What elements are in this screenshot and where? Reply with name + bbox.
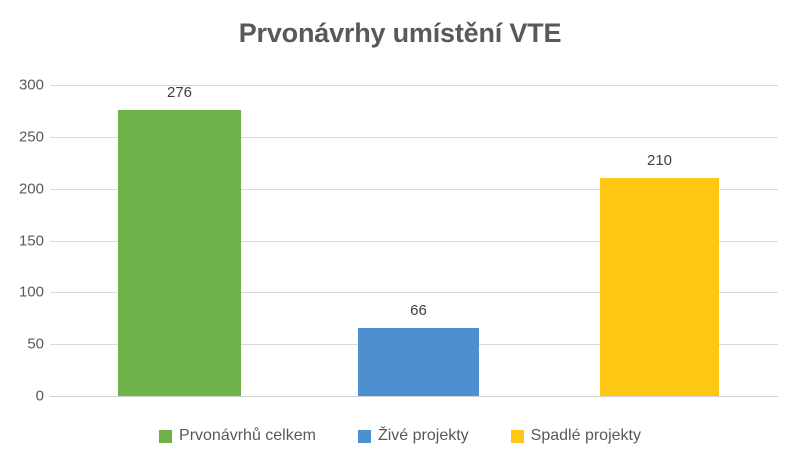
bar-value-label: 210 <box>600 153 719 168</box>
chart-container: Prvonávrhy umístění VTE 0501001502002503… <box>0 0 800 466</box>
chart-title: Prvonávrhy umístění VTE <box>0 18 800 49</box>
y-axis: 050100150200250300 <box>0 85 44 396</box>
y-tick-label: 50 <box>0 337 44 352</box>
bar-2[interactable] <box>358 328 479 396</box>
y-tick-label: 250 <box>0 129 44 144</box>
y-tick-label: 300 <box>0 78 44 93</box>
legend-item-3[interactable]: Spadlé projekty <box>511 428 641 444</box>
legend-label: Živé projekty <box>378 428 469 444</box>
legend-swatch-icon <box>511 430 524 443</box>
plot-area: 27666210 <box>50 85 778 396</box>
y-tick-label: 0 <box>0 389 44 404</box>
y-tick-label: 200 <box>0 181 44 196</box>
gridline <box>50 396 778 397</box>
legend-swatch-icon <box>159 430 172 443</box>
bar-1[interactable] <box>118 110 241 396</box>
legend-label: Prvonávrhů celkem <box>179 428 316 444</box>
legend-label: Spadlé projekty <box>531 428 641 444</box>
bar-value-label: 276 <box>118 85 241 100</box>
legend-item-2[interactable]: Živé projekty <box>358 428 469 444</box>
y-tick-label: 150 <box>0 233 44 248</box>
chart-legend: Prvonávrhů celkemŽivé projektySpadlé pro… <box>0 428 800 444</box>
legend-swatch-icon <box>358 430 371 443</box>
bar-3[interactable] <box>600 178 719 396</box>
bar-value-label: 66 <box>358 303 479 318</box>
legend-item-1[interactable]: Prvonávrhů celkem <box>159 428 316 444</box>
y-tick-label: 100 <box>0 285 44 300</box>
